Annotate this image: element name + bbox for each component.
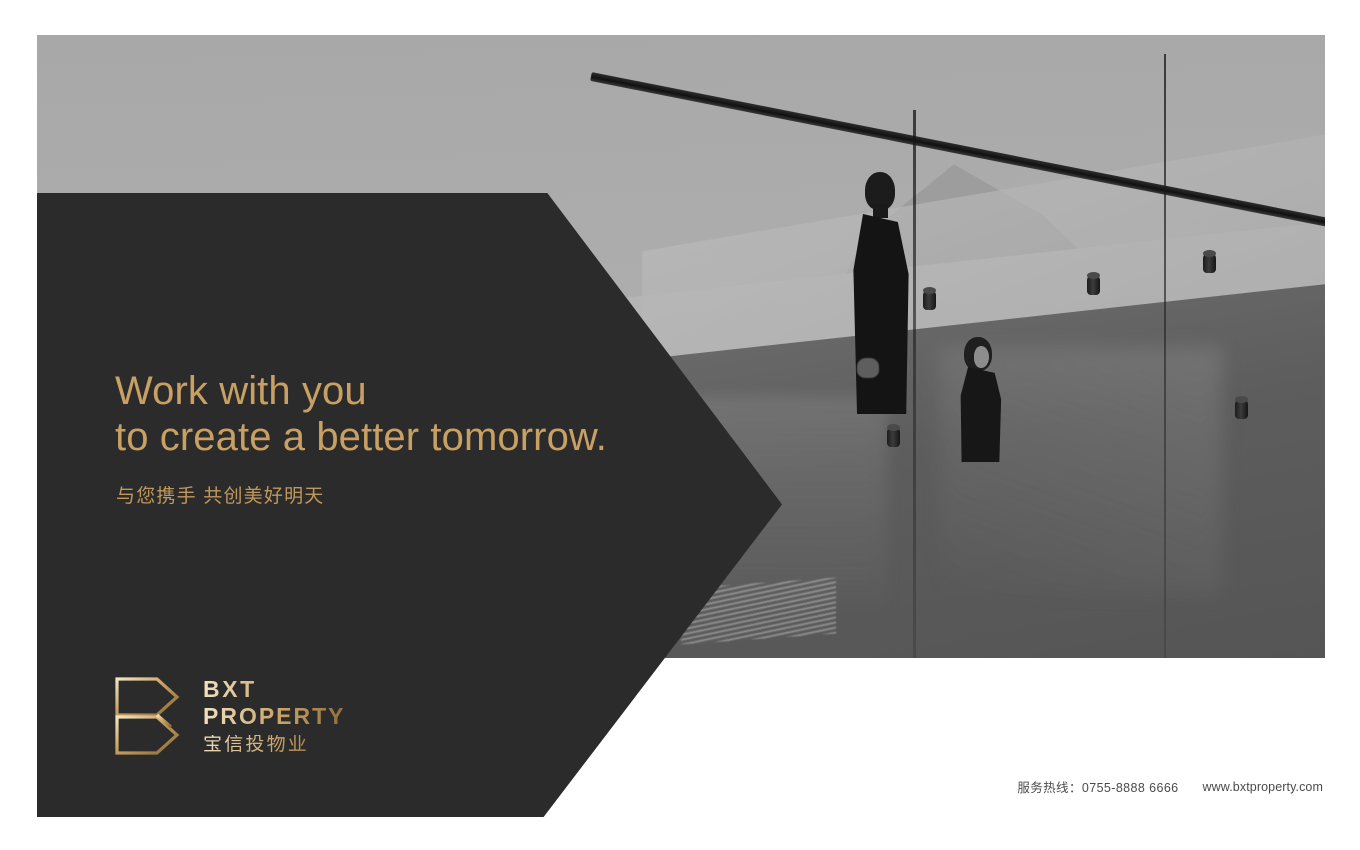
subtitle: 与您携手 共创美好明天 [116, 481, 324, 508]
logo-lockup: BXT PROPERTY 宝信投物业 [113, 675, 346, 757]
logo-name-line2: PROPERTY [203, 705, 346, 728]
glass-standoff-fitting [1087, 275, 1100, 295]
bxt-monogram-icon [113, 675, 181, 757]
logo-name-line1: BXT [203, 678, 346, 701]
logo-wordmark: BXT PROPERTY 宝信投物业 [203, 678, 346, 754]
website-url[interactable]: www.bxtproperty.com [1203, 780, 1323, 794]
glass-joint [913, 110, 916, 658]
glass-standoff-fitting [1235, 399, 1248, 419]
page-title: Work with you to create a better tomorro… [115, 368, 607, 461]
hand [857, 358, 879, 378]
footer-contact-strip: 服务热线：0755-8888 6666 www.bxtproperty.com [1017, 777, 1323, 796]
person-standing-man [851, 172, 913, 412]
brand-poster: Work with you to create a better tomorro… [0, 0, 1360, 850]
coat [851, 214, 911, 414]
coat [958, 367, 1004, 462]
face [974, 346, 989, 368]
person-standing-woman [958, 337, 1006, 462]
glass-joint [1164, 54, 1166, 658]
neck [873, 204, 888, 218]
glass-standoff-fitting [923, 290, 936, 310]
glass-standoff-fitting [887, 427, 900, 447]
glass-standoff-fitting [1203, 253, 1216, 273]
service-hotline: 服务热线：0755-8888 6666 [1017, 777, 1178, 796]
logo-name-chinese: 宝信投物业 [203, 735, 346, 754]
